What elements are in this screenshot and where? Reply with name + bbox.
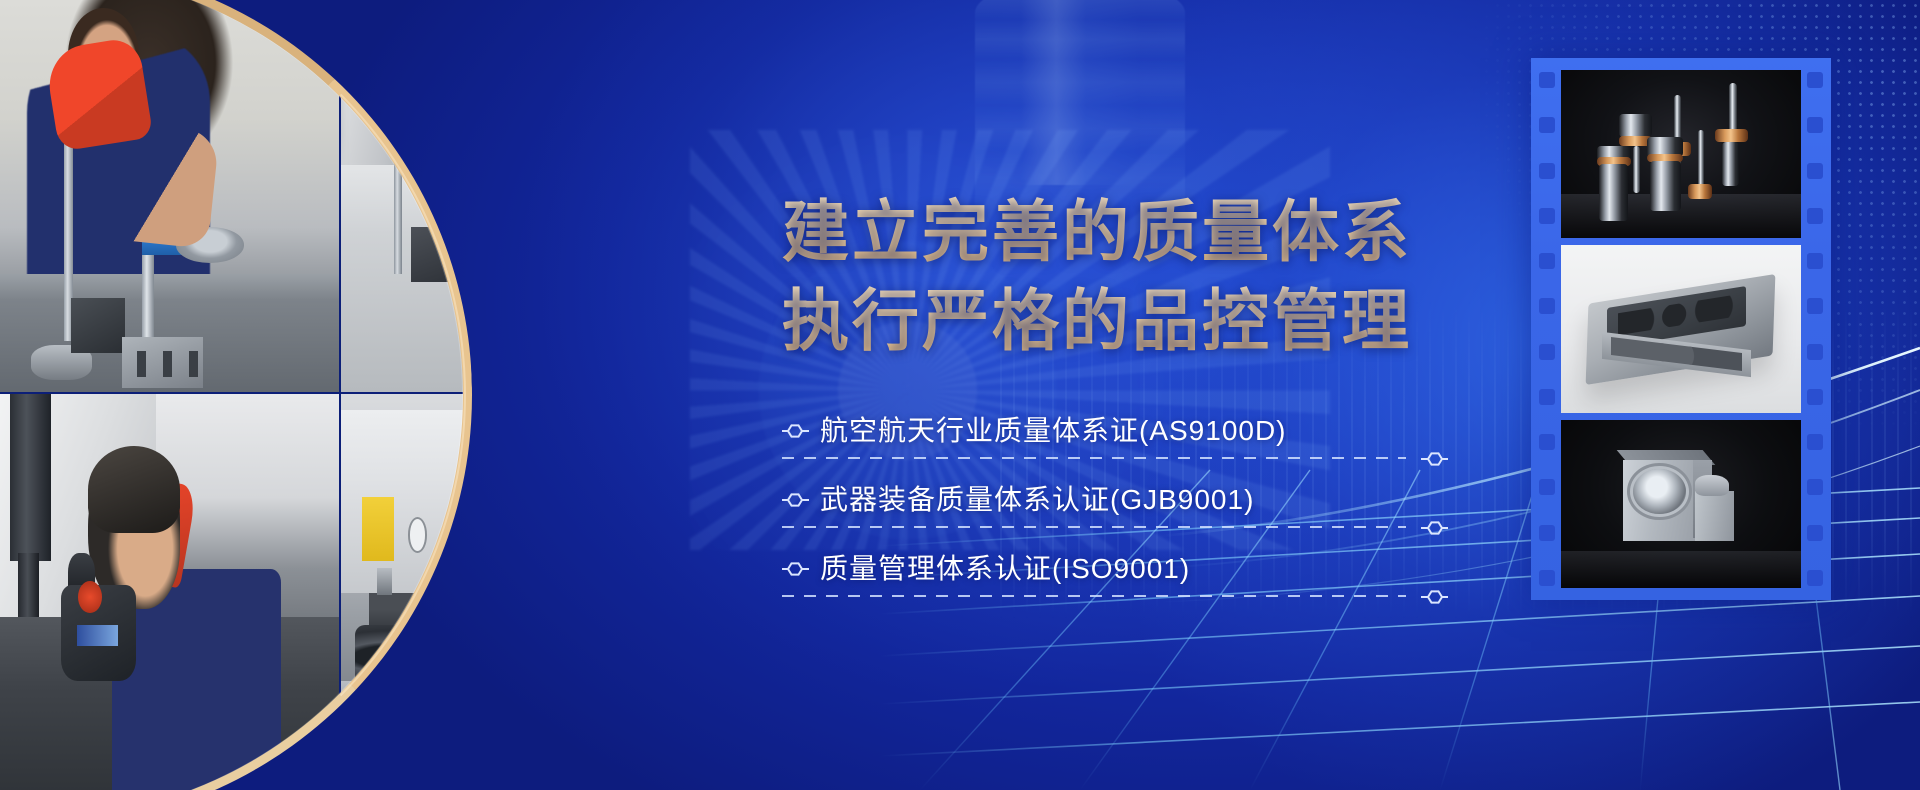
- product-image-precision-pins: [1561, 70, 1801, 238]
- banner-content: 建立完善的质量体系 执行严格的品控管理 航空航天行业质量体系证(AS9100D): [782, 0, 1422, 790]
- list-item: 质量管理体系认证(ISO9001): [782, 534, 1454, 603]
- filmstrip-perforations-left: [1539, 72, 1555, 586]
- product-image-bearing-block: [1561, 420, 1801, 588]
- product-filmstrip: [1531, 58, 1831, 600]
- list-item-underline: [782, 526, 1406, 528]
- headline-line-1: 建立完善的质量体系: [782, 188, 1442, 277]
- photo-cmm-operation: [0, 394, 339, 790]
- product-image-aluminum-housing: [1561, 245, 1801, 413]
- photo-height-gauge-inspection: [0, 0, 339, 392]
- photo-bench-measurement: [341, 0, 692, 392]
- hex-bolt-icon: [782, 421, 812, 441]
- photo-cnc-caliper-check: [341, 394, 692, 790]
- filmstrip-perforations-right: [1807, 72, 1823, 586]
- list-item-underline: [782, 595, 1406, 597]
- list-item-label: 武器装备质量体系认证(GJB9001): [820, 483, 1254, 517]
- list-item: 武器装备质量体系认证(GJB9001): [782, 465, 1454, 534]
- list-item-label: 航空航天行业质量体系证(AS9100D): [820, 414, 1287, 448]
- headline-line-2: 执行严格的品控管理: [782, 277, 1442, 366]
- hex-bolt-end-icon: [1418, 587, 1448, 607]
- certification-list: 航空航天行业质量体系证(AS9100D): [782, 396, 1454, 603]
- list-item: 航空航天行业质量体系证(AS9100D): [782, 396, 1454, 465]
- list-item-label: 质量管理体系认证(ISO9001): [820, 552, 1190, 586]
- page-title: 建立完善的质量体系 执行严格的品控管理: [782, 188, 1442, 366]
- hex-bolt-icon: [782, 559, 812, 579]
- quality-system-banner: 建立完善的质量体系 执行严格的品控管理 航空航天行业质量体系证(AS9100D): [0, 0, 1920, 790]
- hex-bolt-icon: [782, 490, 812, 510]
- list-item-underline: [782, 457, 1406, 459]
- quality-inspection-photo-collage: [0, 0, 690, 790]
